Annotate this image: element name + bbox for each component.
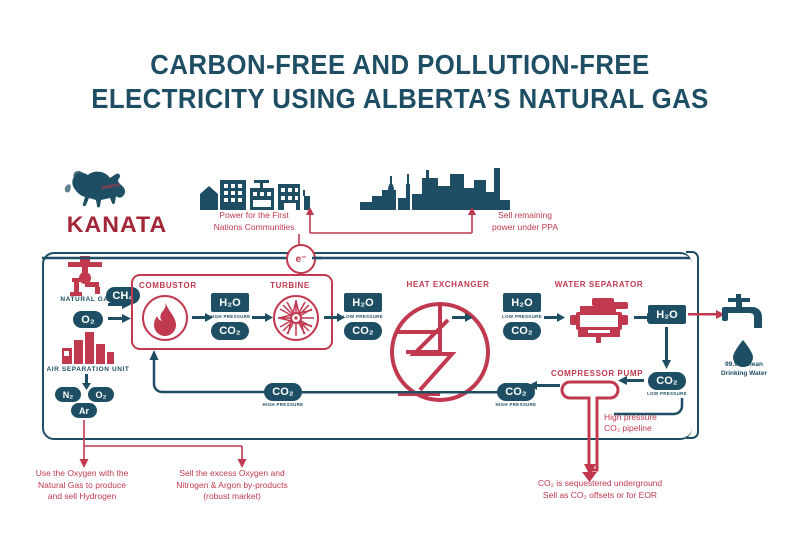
infographic-canvas: CARBON-FREE AND POLLUTION-FREE ELECTRICI… xyxy=(0,0,800,537)
press-label-high-1: HIGH PRESSURE xyxy=(203,314,257,319)
chem-co2-low-3-label: CO₂ xyxy=(656,375,677,387)
chem-co2-low-3: CO₂ xyxy=(648,372,686,390)
arrow-gas-to-combustor xyxy=(108,300,132,310)
press-label-low-2: LOW PRESSURE xyxy=(495,314,549,319)
label-heat-exchanger: HEAT EXCHANGER xyxy=(393,280,503,289)
chem-co2-low-1-label: CO₂ xyxy=(352,325,373,337)
label-air-separation-unit: AIR SEPARATION UNIT xyxy=(38,366,138,373)
caption-sequestration: CO₂ is sequestered underground Sell as C… xyxy=(510,478,690,501)
arrow-h2o-to-faucet xyxy=(688,310,726,320)
arrow-stream-to-turbine xyxy=(252,313,274,323)
caption-hydrogen: Use the Oxygen with the Natural Gas to p… xyxy=(22,468,142,503)
chem-co2-high-left-label: CO₂ xyxy=(272,386,293,398)
logo-wordmark: KANATA xyxy=(59,212,175,238)
faucet-icon xyxy=(722,294,770,334)
caption-byproducts: Sell the excess Oxygen and Nitrogen & Ar… xyxy=(160,468,304,503)
callout-ppa: Sell remaining power under PPA xyxy=(470,210,580,233)
chem-o2-input-label: O₂ xyxy=(81,314,94,326)
chem-co2-high-right-label: CO₂ xyxy=(505,386,526,398)
city-skyline-icon xyxy=(360,166,510,210)
chem-h2o-low-2-label: H₂O xyxy=(511,297,532,309)
page-title: CARBON-FREE AND POLLUTION-FREE ELECTRICI… xyxy=(0,48,800,116)
chem-co2-high-1: CO₂ xyxy=(211,322,249,340)
chem-o2-byproduct-label: O₂ xyxy=(96,390,107,400)
arrow-to-separator xyxy=(544,313,566,323)
label-turbine: TURBINE xyxy=(252,281,328,290)
callout-first-nations-text: Power for the First Nations Communities xyxy=(214,210,295,232)
chem-n2: N₂ xyxy=(55,387,81,402)
chem-co2-low-1: CO₂ xyxy=(344,322,382,340)
factory-icon xyxy=(62,330,114,364)
title-line-2: ELECTRICITY USING ALBERTA’S NATURAL GAS xyxy=(32,82,768,116)
arrow-h2o-down-to-co2 xyxy=(662,327,672,369)
chem-h2o-low-1-label: H₂O xyxy=(352,297,373,309)
town-buildings-icon xyxy=(200,168,310,210)
chem-h2o-low-2: H₂O xyxy=(503,293,541,312)
callout-ppa-text: Sell remaining power under PPA xyxy=(492,210,558,232)
chem-o2-byproduct: O₂ xyxy=(88,387,114,402)
label-compressor-pump: COMPRESSOR PUMP xyxy=(545,369,649,378)
press-label-high-left: HIGH PRESSURE xyxy=(256,402,310,407)
recycle-return-to-combustor xyxy=(148,346,272,394)
arrow-o2-to-combustor xyxy=(108,314,132,324)
electric-bus-right xyxy=(312,256,692,264)
press-label-low-3: LOW PRESSURE xyxy=(640,391,694,396)
hx-bottom-connector xyxy=(380,392,500,398)
arrow-sequestration xyxy=(582,462,598,476)
chem-h2o-out-label: H₂O xyxy=(656,309,677,321)
chem-n2-label: N₂ xyxy=(63,390,74,400)
chem-o2-input: O₂ xyxy=(73,311,103,328)
callout-first-nations: Power for the First Nations Communities xyxy=(196,210,312,233)
chem-ar-label: Ar xyxy=(79,406,89,416)
turbine-icon xyxy=(272,294,320,342)
flame-icon xyxy=(141,294,189,342)
caption-pipeline: High pressure CO₂ pipeline xyxy=(604,412,684,434)
chem-co2-high-right: CO₂ xyxy=(497,383,535,401)
arrow-hx-out xyxy=(452,313,474,323)
kanata-logo: ENERGY KANATA xyxy=(62,164,172,238)
chem-h2o-high-label: H₂O xyxy=(219,297,240,309)
chem-h2o-out: H₂O xyxy=(648,305,686,324)
title-line-1: CARBON-FREE AND POLLUTION-FREE xyxy=(32,48,768,82)
chem-h2o-low-1: H₂O xyxy=(344,293,382,312)
bison-icon: ENERGY xyxy=(62,164,148,210)
chem-co2-low-2: CO₂ xyxy=(503,322,541,340)
caption-clean-water: 99.9% Clean Drinking Water xyxy=(706,360,782,378)
bottom-outlet-lines xyxy=(42,420,602,468)
electric-bus-left xyxy=(42,256,302,264)
chem-h2o-high: H₂O xyxy=(211,293,249,312)
label-water-separator: WATER SEPARATOR xyxy=(546,280,652,289)
separator-machine-icon xyxy=(566,296,632,344)
chem-co2-high-1-label: CO₂ xyxy=(219,325,240,337)
label-combustor: COMBUSTOR xyxy=(131,281,229,290)
chem-co2-low-2-label: CO₂ xyxy=(511,325,532,337)
chem-ar: Ar xyxy=(71,403,97,418)
